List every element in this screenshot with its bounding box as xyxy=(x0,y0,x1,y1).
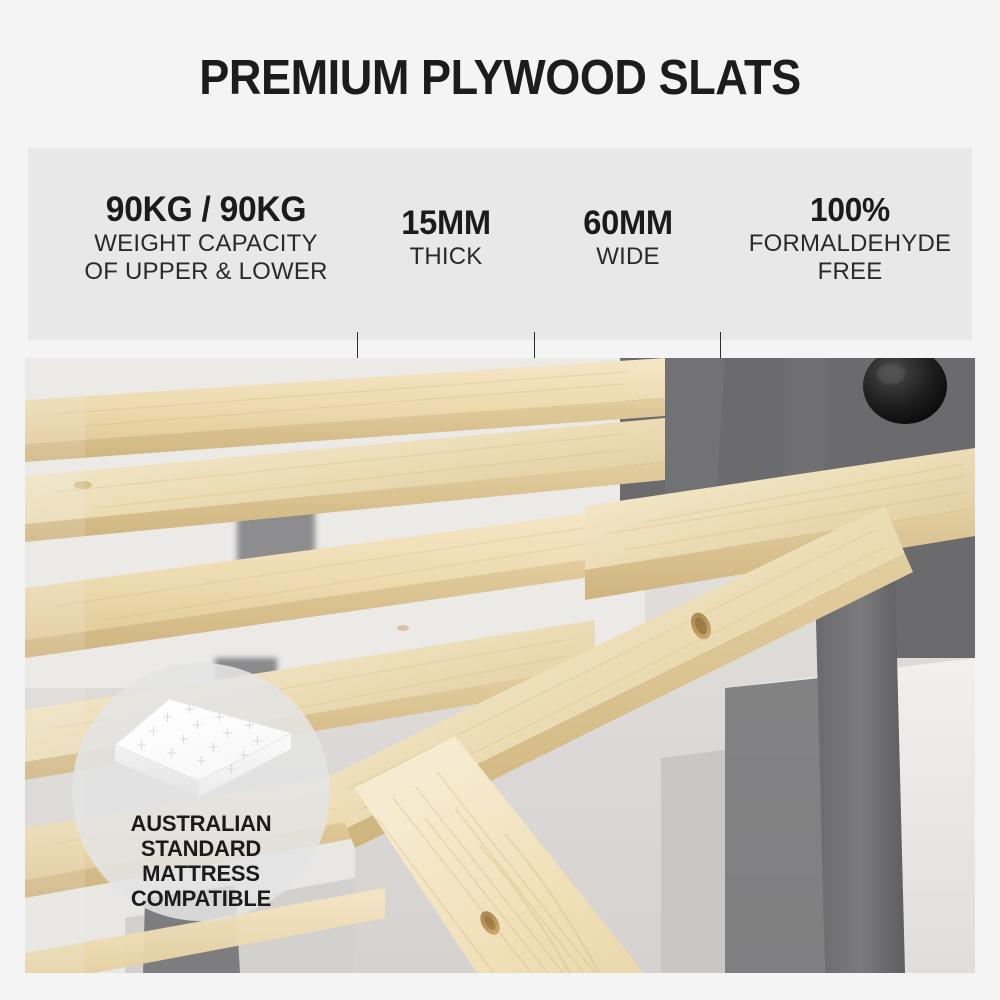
stat-value: 90KG / 90KG xyxy=(62,190,350,230)
stat-label-line1: FORMALDEHYDE xyxy=(728,230,972,258)
mattress-icon xyxy=(101,687,301,805)
stat-value: 100% xyxy=(733,190,967,230)
stat-label-line2: OF UPPER & LOWER xyxy=(56,258,356,286)
stat-value: 60MM xyxy=(545,203,710,243)
stat-label-line2: FREE xyxy=(728,258,972,286)
badge-line-3: MATTRESS xyxy=(72,861,330,886)
stats-panel: 90KG / 90KG WEIGHT CAPACITY OF UPPER & L… xyxy=(28,148,972,340)
badge-line-2: STANDARD xyxy=(72,836,330,861)
stat-width: 60MM WIDE xyxy=(542,203,714,271)
stat-thickness: 15MM THICK xyxy=(364,203,528,271)
badge-line-4: COMPATIBLE xyxy=(72,886,330,911)
badge-text: AUSTRALIAN STANDARD MATTRESS COMPATIBLE xyxy=(72,811,330,911)
stat-label-line1: WIDE xyxy=(542,243,714,271)
page-title: PREMIUM PLYWOOD SLATS xyxy=(40,52,960,104)
badge-line-1: AUSTRALIAN xyxy=(72,811,330,836)
product-photo: AUSTRALIAN STANDARD MATTRESS COMPATIBLE xyxy=(25,358,975,973)
stat-label-line1: WEIGHT CAPACITY xyxy=(56,230,356,258)
stat-value: 15MM xyxy=(367,203,524,243)
infographic-page: PREMIUM PLYWOOD SLATS 90KG / 90KG WEIGHT… xyxy=(0,0,1000,1000)
stat-formaldehyde-free: 100% FORMALDEHYDE FREE xyxy=(728,190,972,286)
stat-weight-capacity: 90KG / 90KG WEIGHT CAPACITY OF UPPER & L… xyxy=(56,190,356,286)
australian-standard-badge: AUSTRALIAN STANDARD MATTRESS COMPATIBLE xyxy=(72,663,330,921)
stat-label-line1: THICK xyxy=(364,243,528,271)
